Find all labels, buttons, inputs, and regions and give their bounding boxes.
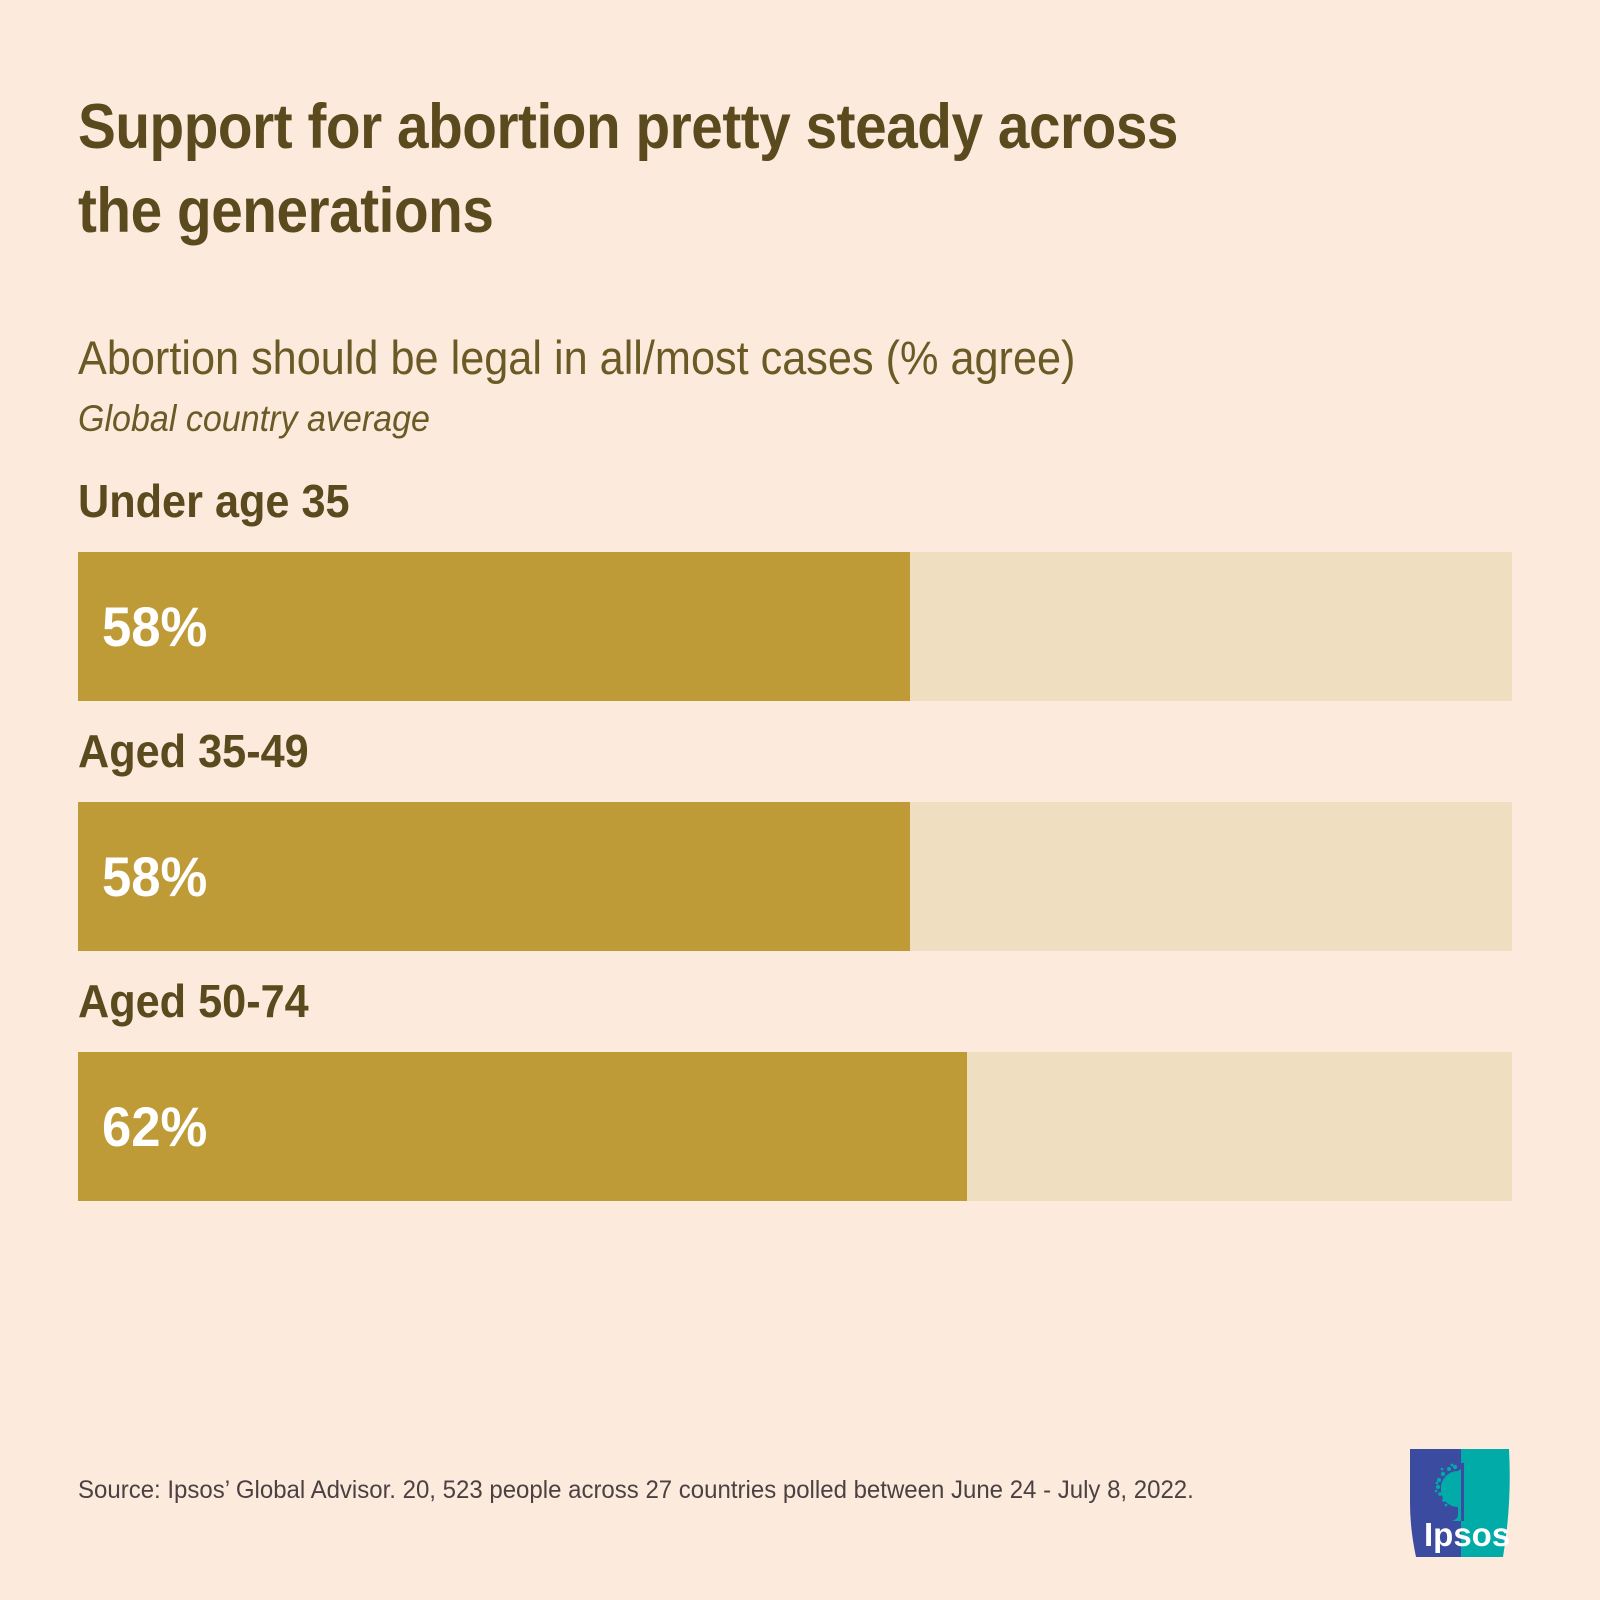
chart-subtitle: Abortion should be legal in all/most cas… (78, 254, 1403, 385)
bar-group-under-35: Under age 35 58% (78, 478, 1512, 701)
bar-track: 58% (78, 552, 1512, 701)
bar-group-aged-50-74: Aged 50-74 62% (78, 978, 1512, 1201)
bar-value-label: 58% (102, 849, 207, 905)
ipsos-wordmark: Ipsos (1424, 1516, 1510, 1553)
ipsos-logo: Ipsos (1410, 1449, 1512, 1557)
bar-value-label: 58% (102, 599, 207, 655)
footer: Source: Ipsos’ Global Advisor. 20, 523 p… (78, 1474, 1378, 1507)
bar-category-label: Under age 35 (78, 478, 1426, 552)
page-title: Support for abortion pretty steady acros… (78, 86, 1374, 254)
header: Support for abortion pretty steady acros… (78, 86, 1518, 441)
bar-track: 62% (78, 1052, 1512, 1201)
bar-chart: Under age 35 58% Aged 35-49 58% Aged 50-… (78, 478, 1512, 1201)
chart-subtitle-note: Global country average (78, 385, 1403, 441)
bar-category-label: Aged 50-74 (78, 978, 1426, 1052)
bar-track: 58% (78, 802, 1512, 951)
bar-group-aged-35-49: Aged 35-49 58% (78, 728, 1512, 951)
bar-fill (78, 1052, 967, 1201)
source-note: Source: Ipsos’ Global Advisor. 20, 523 p… (78, 1474, 1326, 1507)
bar-category-label: Aged 35-49 (78, 728, 1426, 802)
infographic-page: Support for abortion pretty steady acros… (0, 0, 1600, 1600)
bar-value-label: 62% (102, 1099, 207, 1155)
